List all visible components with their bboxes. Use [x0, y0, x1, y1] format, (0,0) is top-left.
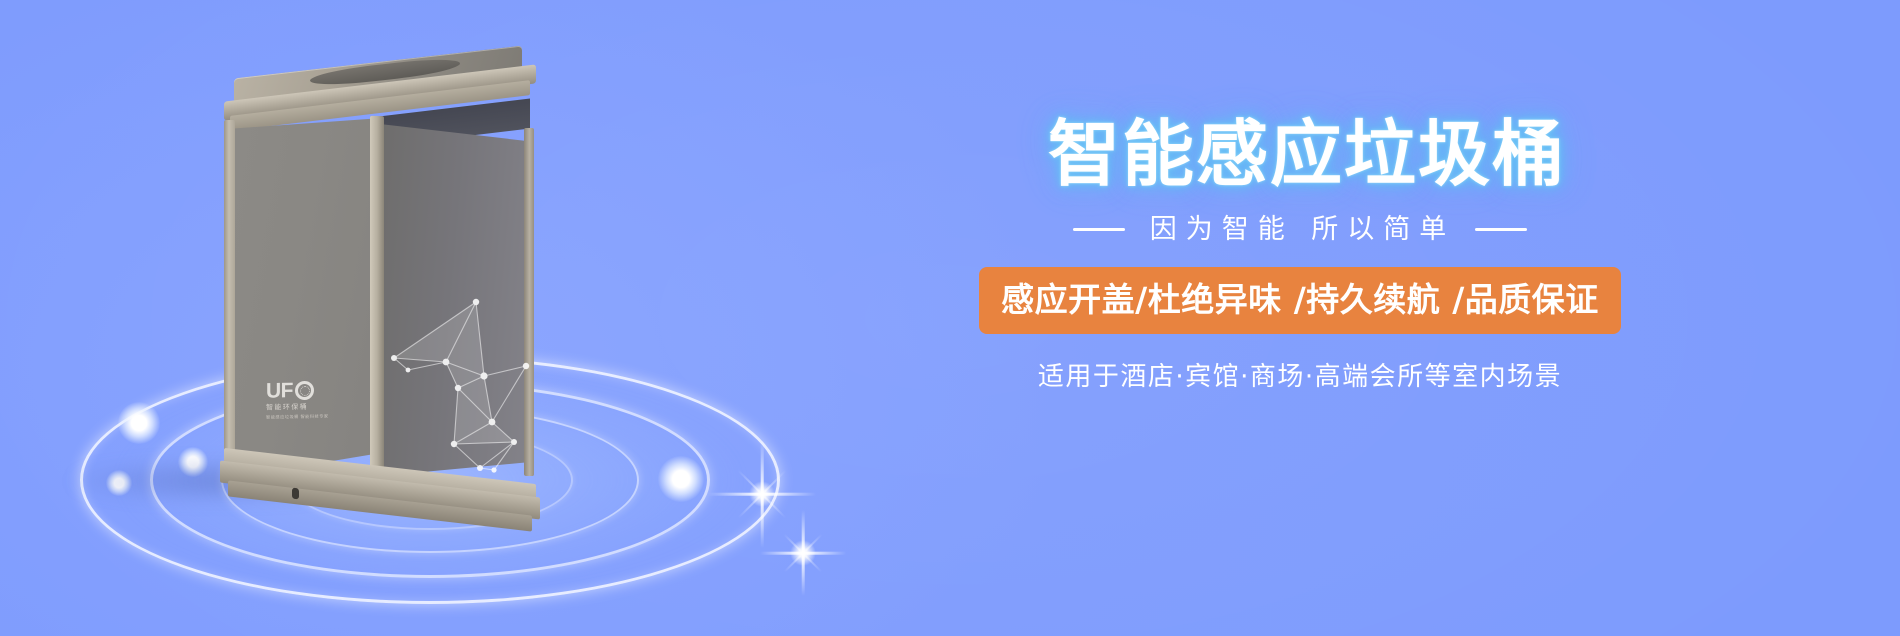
subheadline-text: 因为智能 所以简单: [1145, 216, 1456, 243]
features-pill-row: 感应开盖/杜绝异味 /持久续航 /品质保证: [880, 267, 1720, 334]
logo-wordmark: UF: [266, 379, 340, 401]
logo-wordmark-text: UF: [266, 380, 293, 401]
bin-base: [220, 466, 540, 528]
promo-banner: UF 智能环保桶 智能感应垃圾桶 智能科技专家 智能感应垃圾桶 因为智能 所以简…: [0, 0, 1900, 636]
logo-chinese-text: 智能环保桶: [266, 403, 340, 412]
copy-block: 智能感应垃圾桶 因为智能 所以简单 感应开盖/杜绝异味 /持久续航 /品质保证 …: [880, 118, 1720, 390]
bin-network-graphic: [388, 292, 536, 477]
bin-edge-post-left: [224, 120, 235, 480]
rule-left: [1073, 228, 1125, 231]
bin-base-lock-icon: [292, 488, 299, 500]
rule-right: [1475, 228, 1527, 231]
bin-corner-post: [370, 116, 384, 484]
product-stage: UF 智能环保桶 智能感应垃圾桶 智能科技专家: [60, 20, 840, 620]
product-image-trash-bin: UF 智能环保桶 智能感应垃圾桶 智能科技专家: [220, 62, 540, 492]
glow-dot-4: [658, 456, 704, 502]
logo-ring-icon: [295, 381, 314, 400]
product-logo: UF 智能环保桶 智能感应垃圾桶 智能科技专家: [266, 379, 340, 419]
use-cases-text: 适用于酒店·宾馆·商场·高端会所等室内场景: [880, 364, 1720, 390]
bin-face-front: [230, 118, 382, 478]
features-pill: 感应开盖/杜绝异味 /持久续航 /品质保证: [979, 267, 1621, 334]
subheadline-row: 因为智能 所以简单: [880, 216, 1720, 243]
glow-dot-1: [118, 402, 160, 444]
headline-title: 智能感应垃圾桶: [880, 118, 1720, 190]
